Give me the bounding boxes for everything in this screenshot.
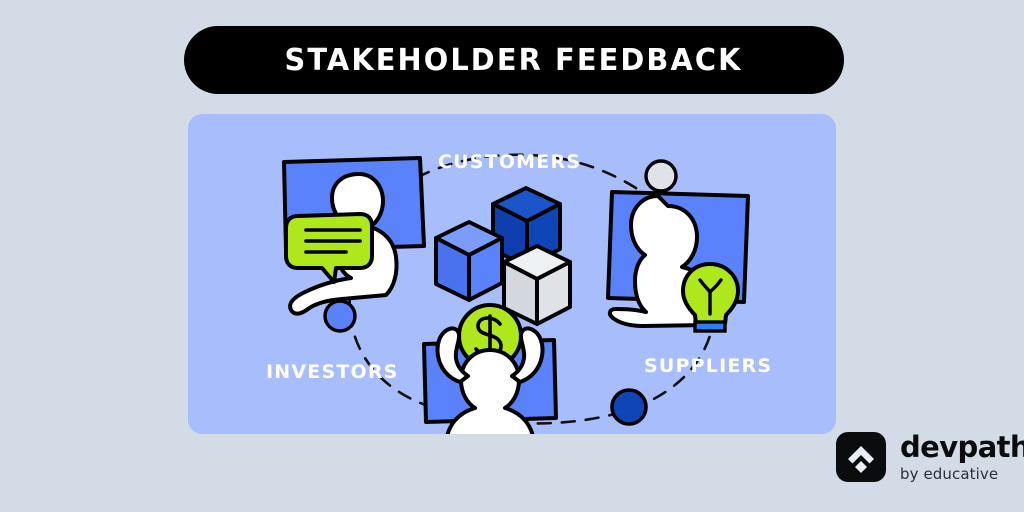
page-title: STAKEHOLDER FEEDBACK: [285, 43, 743, 78]
node-label-customers: CUSTOMERS: [438, 151, 581, 173]
connector-dot-bottom: [612, 390, 646, 424]
node-suppliers[interactable]: SUPPLIERS: [608, 192, 772, 377]
stacked-cubes-icon: [436, 188, 570, 324]
logo-tagline: by educative: [900, 467, 1024, 482]
cube-light-gray: [504, 246, 570, 324]
brand-logo: devpath by educative: [836, 432, 1024, 482]
stakeholder-diagram-card: CUSTOMERS SUPPLIERS: [188, 114, 836, 434]
chevron-diamond-icon: [836, 432, 886, 482]
node-label-suppliers: SUPPLIERS: [644, 355, 772, 377]
stakeholder-diagram: CUSTOMERS SUPPLIERS: [188, 114, 836, 434]
connector-dot-top-right: [646, 161, 676, 191]
page-title-banner: STAKEHOLDER FEEDBACK: [184, 26, 844, 94]
node-investors[interactable]: INVESTORS: [266, 305, 556, 434]
screenshot-root: STAKEHOLDER FEEDBACK: [0, 0, 1024, 512]
cube-medium-blue: [436, 222, 502, 300]
node-label-investors: INVESTORS: [266, 361, 399, 383]
chevron-diamond-glyph: [836, 432, 886, 482]
connector-dot-left: [325, 301, 355, 331]
logo-name: devpath: [900, 433, 1024, 462]
logo-wordmark: devpath by educative: [900, 433, 1024, 482]
